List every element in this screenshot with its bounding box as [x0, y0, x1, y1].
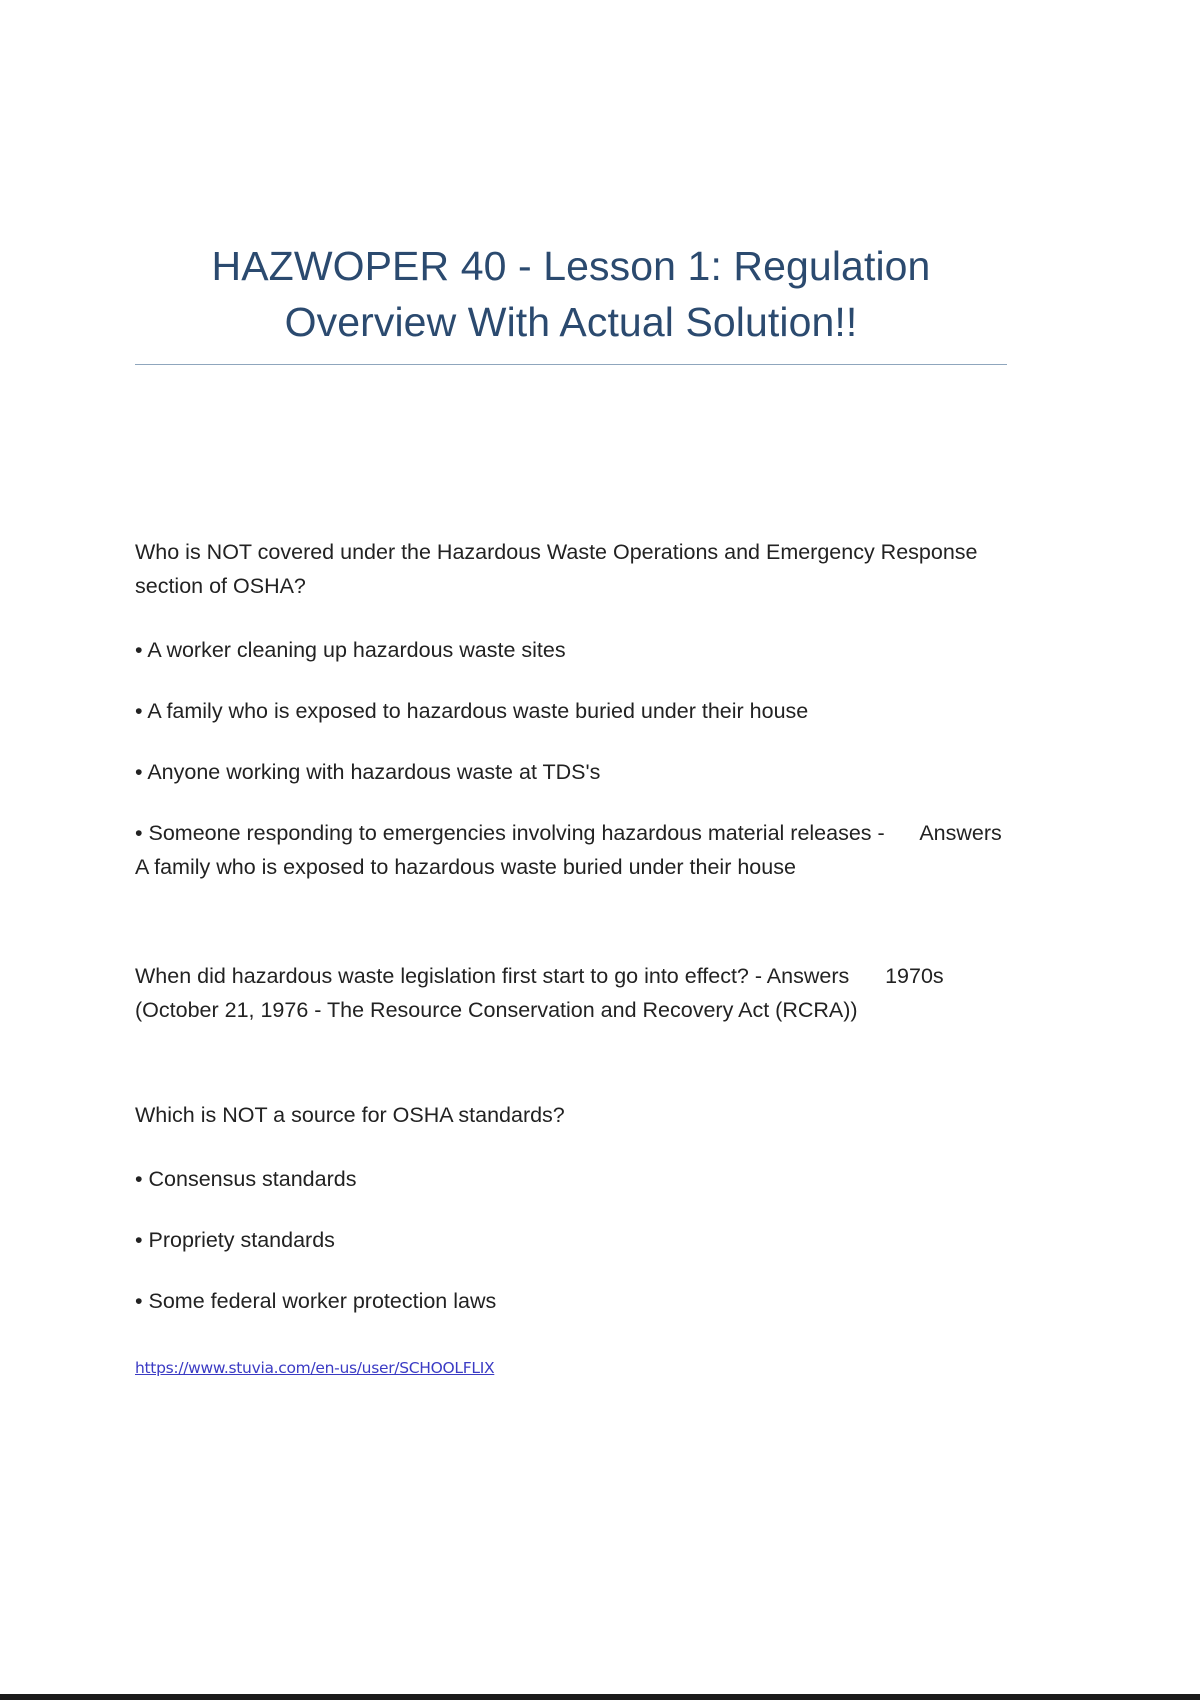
question-2-text-and-answer: When did hazardous waste legislation fir… — [135, 959, 1007, 1027]
question-3-option-3: • Some federal worker protection laws — [135, 1284, 1007, 1318]
document-body: Who is NOT covered under the Hazardous W… — [135, 535, 1007, 1318]
question-1-option-2: • A family who is exposed to hazardous w… — [135, 694, 1007, 728]
question-1-option-1: • A worker cleaning up hazardous waste s… — [135, 633, 1007, 667]
question-3-option-1: • Consensus standards — [135, 1162, 1007, 1196]
document-page: HAZWOPER 40 - Lesson 1: Regulation Overv… — [0, 0, 1200, 1700]
section-gap-1 — [135, 911, 1007, 959]
question-3-option-2: • Propriety standards — [135, 1223, 1007, 1257]
footer: https://www.stuvia.com/en-us/user/SCHOOL… — [135, 1358, 1007, 1378]
page-bottom-edge — [0, 1694, 1200, 1700]
section-gap-2 — [135, 1056, 1007, 1098]
stuvia-profile-link[interactable]: https://www.stuvia.com/en-us/user/SCHOOL… — [135, 1358, 494, 1378]
title-divider — [135, 364, 1007, 365]
question-3-text: Which is NOT a source for OSHA standards… — [135, 1098, 1007, 1132]
question-1-option-3: • Anyone working with hazardous waste at… — [135, 755, 1007, 789]
question-1-text: Who is NOT covered under the Hazardous W… — [135, 535, 1007, 603]
document-content: HAZWOPER 40 - Lesson 1: Regulation Overv… — [135, 0, 1007, 1378]
page-title: HAZWOPER 40 - Lesson 1: Regulation Overv… — [135, 0, 1007, 350]
question-1-option-4-and-answer: • Someone responding to emergencies invo… — [135, 816, 1007, 884]
